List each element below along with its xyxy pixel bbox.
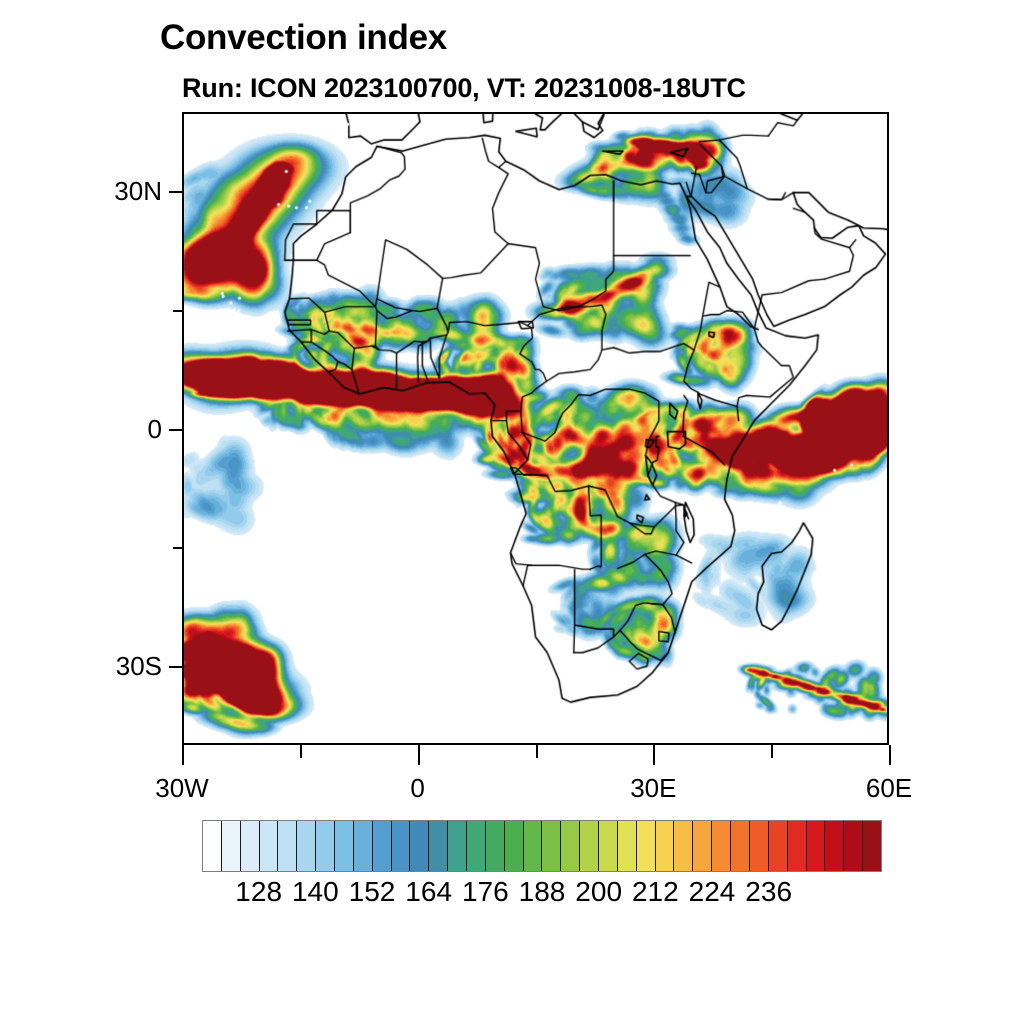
colorbar-cell [429, 821, 448, 871]
colorbar-cell [825, 821, 844, 871]
x-axis-tick [889, 745, 891, 765]
colorbar-cell [297, 821, 316, 871]
colorbar-cell [278, 821, 297, 871]
convection-index-map [184, 114, 887, 743]
colorbar-cell [674, 821, 693, 871]
y-axis-label: 30N [27, 176, 162, 207]
colorbar-cell [561, 821, 580, 871]
y-axis-tick [169, 666, 182, 668]
x-axis-label: 0 [348, 773, 488, 804]
colorbar-cell [599, 821, 618, 871]
colorbar-cell [750, 821, 769, 871]
colorbar-cell [486, 821, 505, 871]
x-axis-tick [771, 745, 773, 758]
colorbar-cell [542, 821, 561, 871]
x-axis-label: 60E [819, 773, 959, 804]
x-axis-label: 30W [112, 773, 252, 804]
y-axis-tick [173, 547, 182, 549]
x-axis-tick [418, 745, 420, 765]
colorbar-cell [807, 821, 826, 871]
colorbar-cell [316, 821, 335, 871]
colorbar-cell [731, 821, 750, 871]
page-title: Convection index [160, 18, 920, 58]
x-axis-tick [536, 745, 538, 758]
colorbar-cell [863, 821, 881, 871]
colorbar-cell [637, 821, 656, 871]
colorbar: 128140152164176188200212224236 [202, 820, 882, 872]
colorbar-cell [335, 821, 354, 871]
colorbar-cell [467, 821, 486, 871]
colorbar-cell [373, 821, 392, 871]
colorbar-swatches [202, 820, 882, 872]
colorbar-cell [656, 821, 675, 871]
convection-index-figure: Convection index Run: ICON 2023100700, V… [0, 0, 1024, 1024]
x-axis-tick [182, 745, 184, 765]
colorbar-cell [241, 821, 260, 871]
colorbar-tick-labels: 128140152164176188200212224236 [202, 876, 882, 916]
x-axis-tick [653, 745, 655, 765]
colorbar-cell [788, 821, 807, 871]
colorbar-cell [410, 821, 429, 871]
colorbar-cell [222, 821, 241, 871]
colorbar-cell [844, 821, 863, 871]
colorbar-cell [203, 821, 222, 871]
colorbar-cell [505, 821, 524, 871]
x-axis-label: 30E [583, 773, 723, 804]
colorbar-cell [712, 821, 731, 871]
colorbar-cell [769, 821, 788, 871]
y-axis-tick [173, 310, 182, 312]
colorbar-cell [618, 821, 637, 871]
colorbar-tick-label: 236 [724, 876, 814, 908]
colorbar-cell [524, 821, 543, 871]
colorbar-cell [580, 821, 599, 871]
map-plot-area[interactable] [182, 112, 889, 745]
x-axis-tick [300, 745, 302, 758]
y-axis-tick [169, 429, 182, 431]
colorbar-cell [354, 821, 373, 871]
colorbar-cell [448, 821, 467, 871]
colorbar-cell [392, 821, 411, 871]
page-subtitle: Run: ICON 2023100700, VT: 20231008-18UTC [182, 72, 942, 104]
colorbar-cell [260, 821, 279, 871]
y-axis-label: 30S [27, 651, 162, 682]
colorbar-cell [693, 821, 712, 871]
y-axis-tick [169, 191, 182, 193]
y-axis-label: 0 [27, 414, 162, 445]
